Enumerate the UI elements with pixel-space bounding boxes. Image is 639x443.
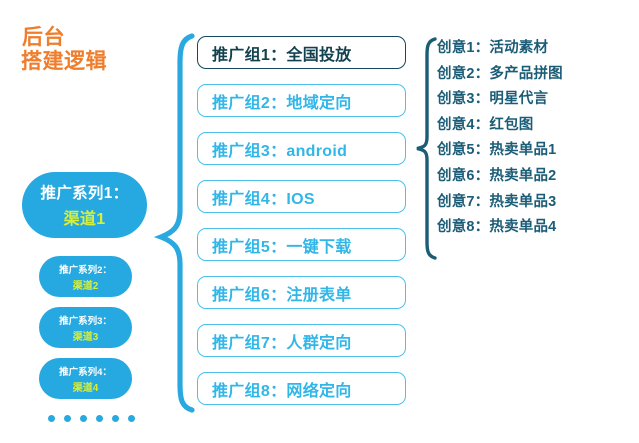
- sidebar-item-series-3-value: 渠道3: [73, 328, 99, 343]
- group-box-4[interactable]: 推广组4：IOS: [197, 180, 406, 213]
- creative-item-8[interactable]: 创意8：热卖单品4: [437, 215, 563, 241]
- sidebar-item-series-2-label: 推广系列2：: [59, 262, 112, 276]
- group-box-7-label: 推广组7：人群定向: [212, 329, 352, 353]
- group-box-4-label: 推广组4：IOS: [212, 185, 315, 209]
- creative-item-7[interactable]: 创意7：热卖单品3: [437, 190, 563, 216]
- group-box-3-label: 推广组3：android: [212, 137, 347, 161]
- dot-icon: [80, 415, 87, 422]
- sidebar-item-series-1[interactable]: 推广系列1： 渠道1: [22, 172, 147, 238]
- group-box-6-label: 推广组6：注册表单: [212, 281, 352, 305]
- sidebar-item-series-4[interactable]: 推广系列4： 渠道4: [39, 358, 132, 399]
- creative-item-5[interactable]: 创意5：热卖单品1: [437, 138, 563, 164]
- group-box-2[interactable]: 推广组2：地域定向: [197, 84, 406, 117]
- group-box-5-label: 推广组5：一键下载: [212, 233, 352, 257]
- series-to-groups-brace: [148, 32, 200, 414]
- sidebar-item-series-4-value: 渠道4: [73, 379, 99, 394]
- sidebar-item-series-3-label: 推广系列3：: [59, 313, 112, 327]
- sidebar-item-series-3[interactable]: 推广系列3： 渠道3: [39, 307, 132, 348]
- dot-icon: [128, 415, 135, 422]
- creative-list: 创意1：活动素材 创意2：多产品拼图 创意3：明星代言 创意4：红包图 创意5：…: [437, 36, 563, 241]
- dot-icon: [48, 415, 55, 422]
- group-box-1-label: 推广组1：全国投放: [212, 41, 352, 65]
- group-box-3[interactable]: 推广组3：android: [197, 132, 406, 165]
- group-box-7[interactable]: 推广组7：人群定向: [197, 324, 406, 357]
- creative-item-4[interactable]: 创意4：红包图: [437, 113, 563, 139]
- more-series-dots: [48, 415, 135, 422]
- group-box-8[interactable]: 推广组8：网络定向: [197, 372, 406, 405]
- sidebar-item-series-2-value: 渠道2: [73, 277, 99, 292]
- dot-icon: [64, 415, 71, 422]
- diagram-canvas: 后台 搭建逻辑 推广系列1： 渠道1 推广系列2： 渠道2 推广系列3： 渠道3…: [0, 0, 639, 443]
- sidebar-item-series-2[interactable]: 推广系列2： 渠道2: [39, 256, 132, 297]
- dot-icon: [112, 415, 119, 422]
- creative-item-2[interactable]: 创意2：多产品拼图: [437, 62, 563, 88]
- sidebar-item-series-1-label: 推广系列1：: [41, 181, 129, 203]
- sidebar-item-series-1-value: 渠道1: [64, 205, 106, 229]
- group-box-8-label: 推广组8：网络定向: [212, 377, 352, 401]
- creative-item-3[interactable]: 创意3：明星代言: [437, 87, 563, 113]
- page-title-line-1: 后台: [22, 26, 107, 50]
- group-box-2-label: 推广组2：地域定向: [212, 89, 352, 113]
- group-box-6[interactable]: 推广组6：注册表单: [197, 276, 406, 309]
- dot-icon: [96, 415, 103, 422]
- sidebar-item-series-4-label: 推广系列4：: [59, 364, 112, 378]
- creative-item-1[interactable]: 创意1：活动素材: [437, 36, 563, 62]
- creative-item-6[interactable]: 创意6：热卖单品2: [437, 164, 563, 190]
- group-box-5[interactable]: 推广组5：一键下载: [197, 228, 406, 261]
- group-box-1[interactable]: 推广组1：全国投放: [197, 36, 406, 69]
- page-title: 后台 搭建逻辑: [22, 26, 107, 73]
- page-title-line-2: 搭建逻辑: [21, 50, 107, 74]
